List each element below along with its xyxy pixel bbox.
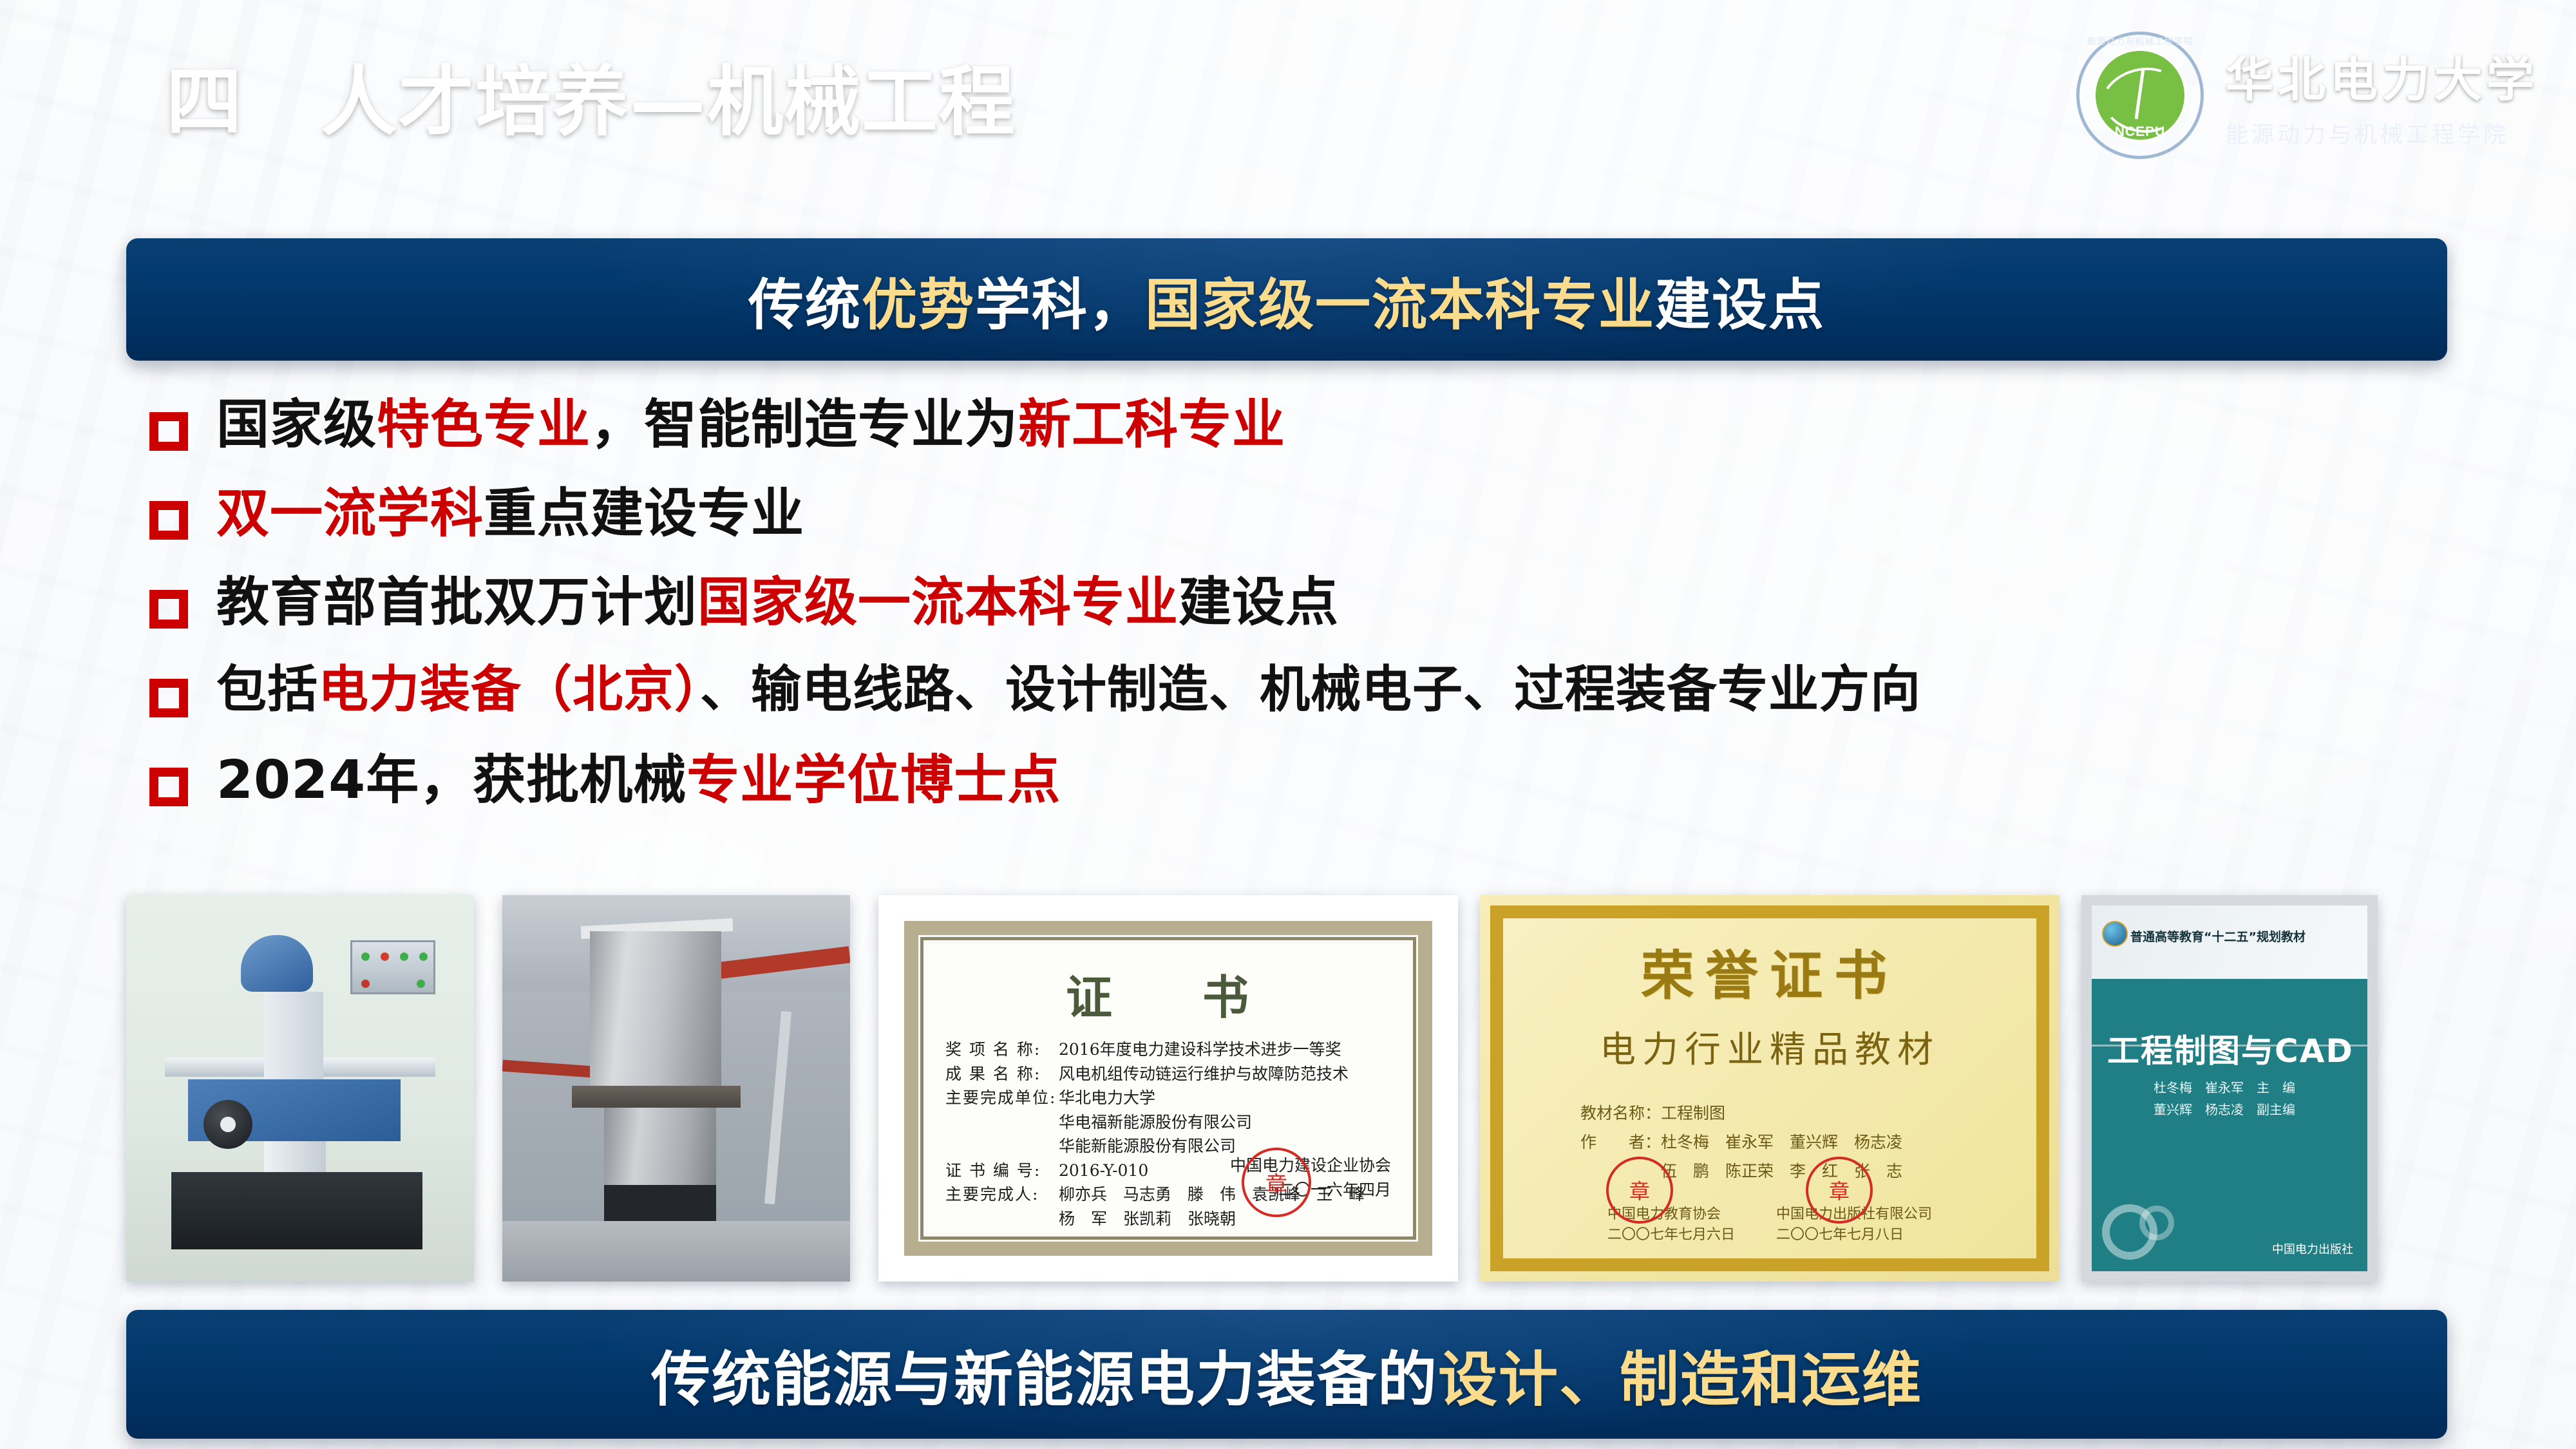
slide-root: 四 人才培养—机械工程 能源动力与机械工程学院 NCEPU 华北电力大学 能源动… — [0, 0, 2576, 1449]
certificate-row-label: 成 果 名 称: — [945, 1062, 1059, 1086]
honor-issuer-date: 二〇〇七年七月八日 — [1776, 1223, 1932, 1244]
image-award-certificate: 证 书 奖 项 名 称:2016年度电力建设科学技术进步一等奖 成 果 名 称:… — [878, 895, 1458, 1282]
certificate-row-label: 证 书 编 号: — [945, 1159, 1059, 1183]
book-author-line: 杜冬梅 崔永军 主 编 — [2154, 1077, 2295, 1099]
honor-issuer-date: 二〇〇七年七月六日 — [1607, 1223, 1735, 1244]
bullet-list: 国家级特色专业，智能制造专业为新工科专业 双一流学科重点建设专业 教育部首批双万… — [149, 394, 2494, 838]
red-seal-icon: 章 — [1242, 1148, 1311, 1217]
segment: 2024年，获批机械 — [216, 750, 687, 811]
bottom-summary-banner: 传统能源与新能源电力装备的设计、制造和运维 — [126, 1310, 2447, 1439]
segment: 、输电线路、设计制造、机械电子、过程装备专业方向 — [700, 661, 1921, 719]
segment: 教育部首批双万计划 — [216, 572, 697, 633]
book-publisher: 中国电力出版社 — [2272, 1240, 2353, 1257]
certificate-row-label: 奖 项 名 称: — [945, 1037, 1059, 1062]
top-banner-part1: 传统 — [748, 273, 862, 337]
image-textbook-cover: 普通高等教育“十二五”规划教材 工程制图与CAD 杜冬梅 崔永军 主 编 董兴辉… — [2081, 895, 2378, 1282]
certificate-row-value: 杨 军 张凯莉 张晓朝 — [1059, 1207, 1236, 1231]
top-banner-text: 传统优势学科，国家级一流本科专业建设点 — [748, 260, 1825, 340]
segment: 国家级 — [216, 394, 377, 455]
segment: 包括 — [216, 661, 318, 719]
list-item: 双一流学科重点建设专业 — [149, 483, 2494, 572]
certificate-row-value: 2016-Y-010 — [1059, 1159, 1148, 1183]
certificate-row-value: 华电福新能源股份有限公司 — [1059, 1110, 1252, 1135]
bullet-text-3: 教育部首批双万计划国家级一流本科专业建设点 — [216, 572, 1339, 633]
top-highlight-banner: 传统优势学科，国家级一流本科专业建设点 — [126, 238, 2447, 361]
bullet-text-2: 双一流学科重点建设专业 — [216, 483, 804, 544]
segment-highlight: 新工科专业 — [1018, 394, 1285, 455]
image-honor-certificate: 荣誉证书 电力行业精品教材 教材名称：工程制图 作 者：杜冬梅 崔永军 董兴辉 … — [1480, 895, 2060, 1282]
top-banner-part5: 建设点 — [1655, 273, 1825, 337]
list-item: 包括电力装备（北京）、输电线路、设计制造、机械电子、过程装备专业方向 — [149, 661, 2494, 750]
segment-highlight: 双一流学科 — [216, 483, 484, 544]
page-title: 四 人才培养—机械工程 — [166, 40, 1016, 150]
segment: 重点建设专业 — [484, 483, 804, 544]
honor-meta-line: 教材名称：工程制图 — [1580, 1099, 1902, 1128]
certificate-title: 证 书 — [945, 960, 1391, 1027]
certificate-row-value: 华北电力大学 — [1059, 1086, 1155, 1110]
university-name: 华北电力大学 — [2226, 41, 2539, 110]
honor-subtitle: 电力行业精品教材 — [1600, 1021, 1940, 1073]
gear-icon — [2139, 1206, 2174, 1240]
red-seal-icon: 章 — [1606, 1157, 1673, 1224]
top-banner-part4: 国家级一流本科专业 — [1145, 273, 1655, 337]
certificate-row-value: 华能新能源股份有限公司 — [1059, 1134, 1236, 1159]
certificate-row-label: 主要完成单位: — [945, 1086, 1059, 1110]
segment-highlight: 特色专业 — [377, 394, 591, 455]
book-author-line: 董兴辉 杨志凌 副主编 — [2154, 1099, 2295, 1121]
bottom-banner-part1: 传统能源与新能源电力装备的 — [651, 1345, 1438, 1414]
photo-milling-machine — [126, 895, 474, 1282]
red-seal-icon: 章 — [1806, 1157, 1873, 1224]
square-bullet-icon — [149, 590, 188, 629]
segment: 建设点 — [1179, 572, 1339, 633]
top-banner-part2: 优势 — [862, 273, 975, 337]
book-title: 工程制图与CAD — [2107, 1025, 2361, 1072]
list-item: 教育部首批双万计划国家级一流本科专业建设点 — [149, 572, 2494, 661]
slide-header: 四 人才培养—机械工程 能源动力与机械工程学院 NCEPU 华北电力大学 能源动… — [0, 0, 2576, 190]
brand-cluster: 能源动力与机械工程学院 NCEPU 华北电力大学 能源动力与机械工程学院 — [2076, 32, 2539, 159]
segment-highlight: 专业学位博士点 — [687, 750, 1061, 811]
series-globe-icon — [2102, 921, 2128, 947]
honor-meta-line: 作 者：杜冬梅 崔永军 董兴辉 杨志凌 — [1580, 1128, 1902, 1157]
square-bullet-icon — [149, 679, 188, 717]
segment: ，智能制造专业为 — [591, 394, 1018, 455]
bullet-text-4: 包括电力装备（北京）、输电线路、设计制造、机械电子、过程装备专业方向 — [216, 661, 1921, 719]
honor-title: 荣誉证书 — [1641, 933, 1899, 1009]
crest-abbreviation: NCEPU — [2076, 124, 2204, 140]
segment-highlight: 电力装备（北京） — [318, 661, 700, 719]
list-item: 国家级特色专业，智能制造专业为新工科专业 — [149, 394, 2494, 483]
book-series-label: 普通高等教育“十二五”规划教材 — [2130, 927, 2361, 945]
square-bullet-icon — [149, 768, 188, 806]
bullet-text-5: 2024年，获批机械专业学位博士点 — [216, 750, 1061, 811]
certificate-row-value: 风电机组传动链运行维护与故障防范技术 — [1059, 1062, 1349, 1086]
square-bullet-icon — [149, 412, 188, 451]
segment-highlight: 国家级一流本科专业 — [697, 572, 1179, 633]
photo-industrial-vessel — [502, 895, 850, 1282]
school-name: 能源动力与机械工程学院 — [2226, 117, 2509, 149]
certificate-row-label: 主要完成人: — [945, 1182, 1059, 1207]
square-bullet-icon — [149, 501, 188, 540]
bullet-text-1: 国家级特色专业，智能制造专业为新工科专业 — [216, 394, 1285, 455]
image-gallery-strip: 证 书 奖 项 名 称:2016年度电力建设科学技术进步一等奖 成 果 名 称:… — [126, 895, 2470, 1294]
ncepu-crest-icon: 能源动力与机械工程学院 NCEPU — [2076, 32, 2204, 159]
certificate-row-value: 2016年度电力建设科学技术进步一等奖 — [1059, 1037, 1341, 1062]
top-banner-part3: 学科， — [975, 273, 1145, 337]
bottom-banner-text: 传统能源与新能源电力装备的设计、制造和运维 — [651, 1332, 1922, 1417]
crest-arc-chinese: 能源动力与机械工程学院 — [2076, 35, 2204, 48]
bottom-banner-part2: 设计、制造和运维 — [1438, 1345, 1922, 1414]
list-item: 2024年，获批机械专业学位博士点 — [149, 750, 2494, 838]
